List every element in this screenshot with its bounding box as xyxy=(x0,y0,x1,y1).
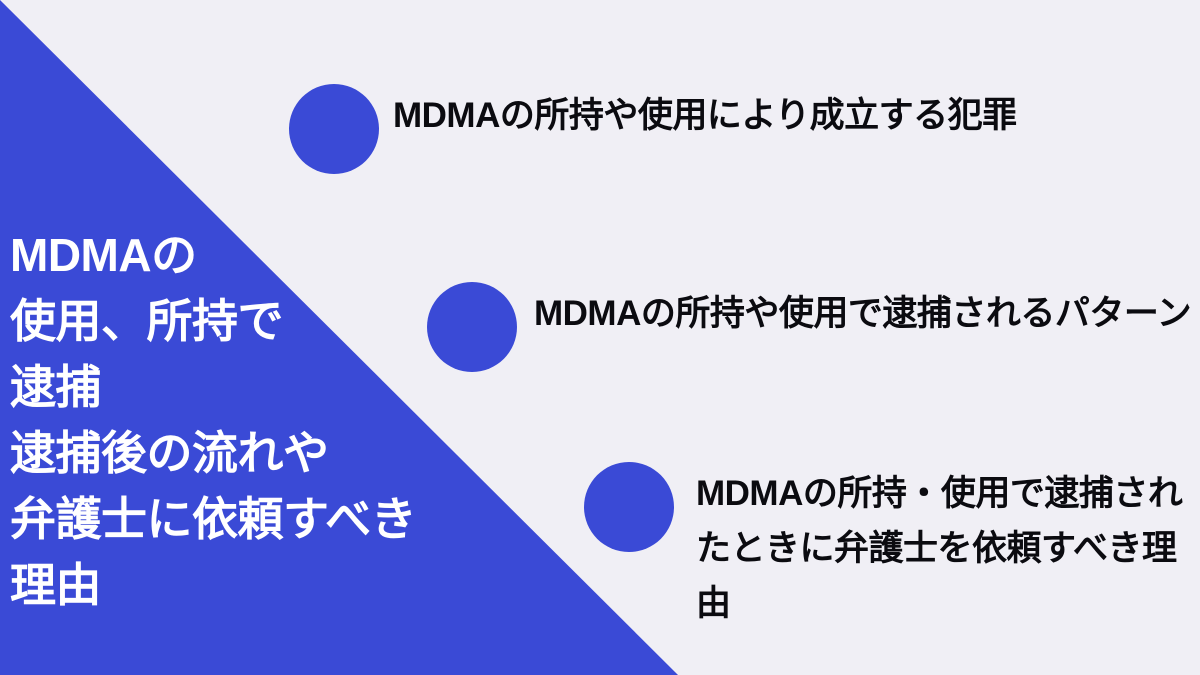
list-item: MDMAの所持や使用により成立する犯罪 xyxy=(289,84,1148,174)
list-item-label: MDMAの所持や使用により成立する犯罪 xyxy=(393,84,1148,143)
list-item-label: MDMAの所持や使用で逮捕されるパターン xyxy=(534,282,1194,341)
list-item: MDMAの所持・使用で逮捕されたときに弁護士を依頼すべき理由 xyxy=(584,462,1200,631)
bullet-circle-icon xyxy=(584,462,674,552)
slide-canvas: MDMAの 使用、所持で 逮捕 逮捕後の流れや 弁護士に依頼すべき 理由 MDM… xyxy=(0,0,1200,675)
bullet-circle-icon xyxy=(289,84,379,174)
bullet-circle-icon xyxy=(427,282,517,372)
list-item-label: MDMAの所持・使用で逮捕されたときに弁護士を依頼すべき理由 xyxy=(696,462,1200,631)
list-item: MDMAの所持や使用で逮捕されるパターン xyxy=(427,282,1194,372)
